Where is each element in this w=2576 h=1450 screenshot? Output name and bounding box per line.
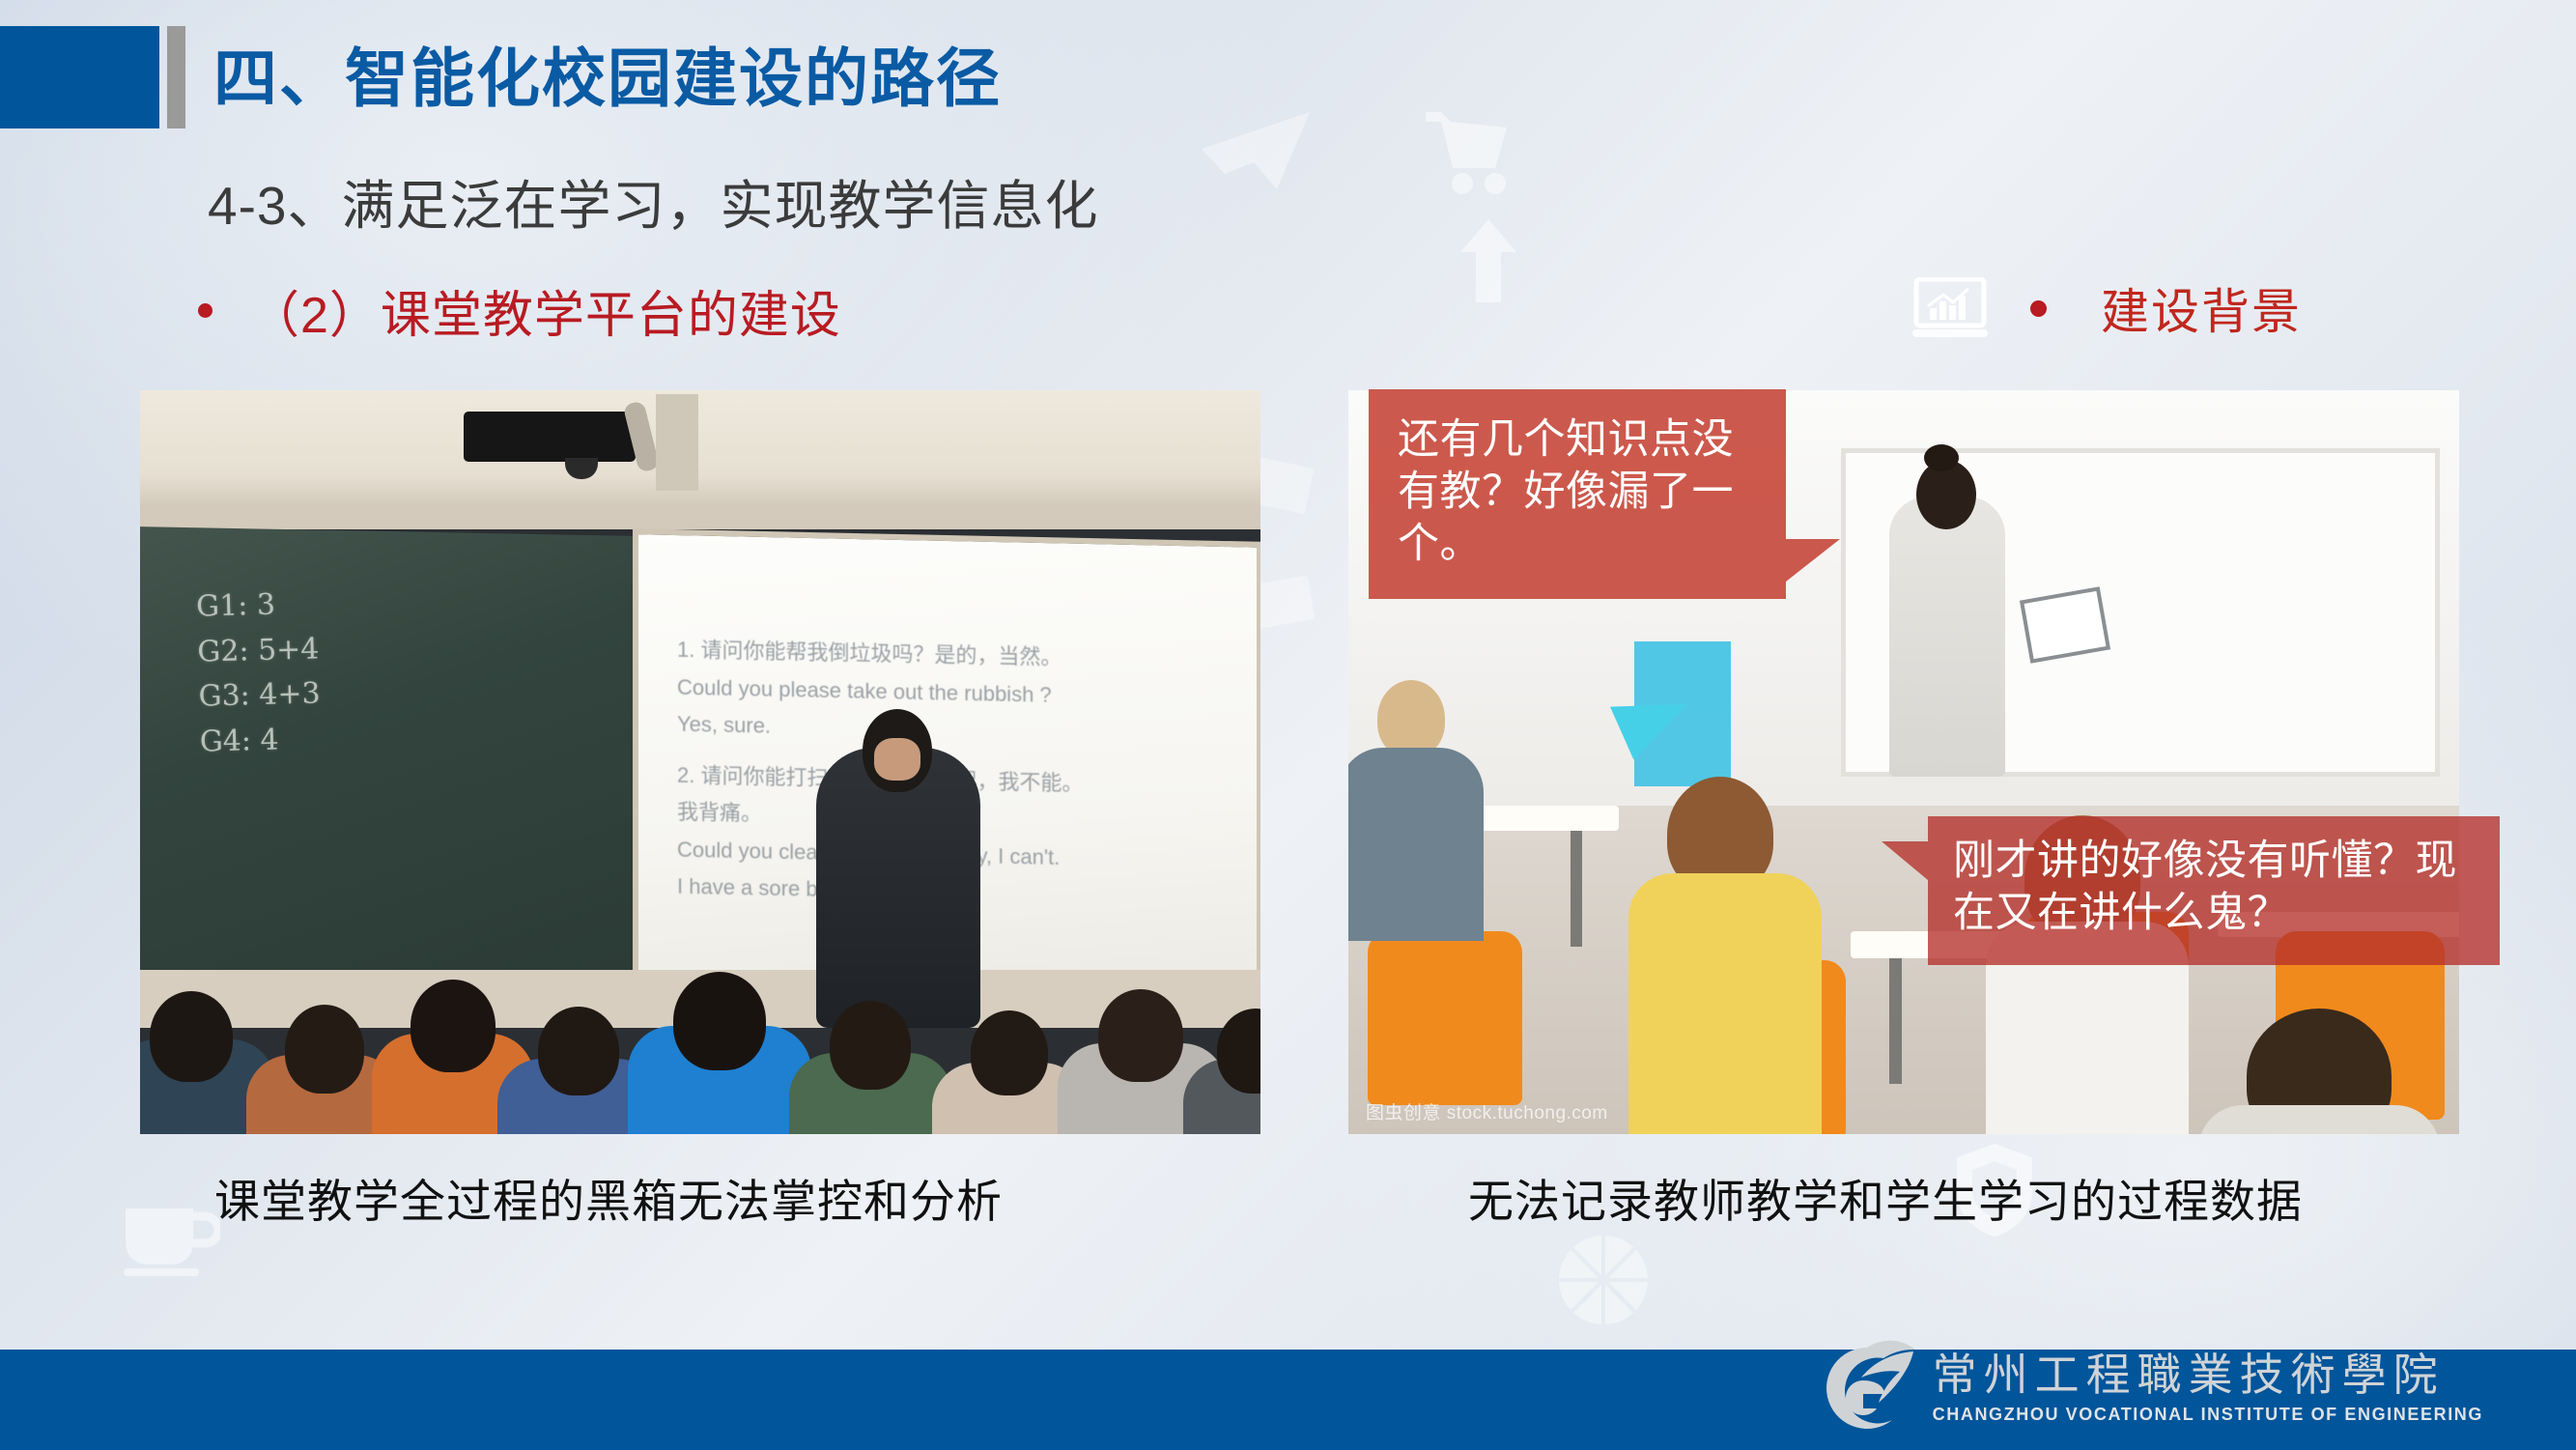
student-thought-bubble: 刚才讲的好像没有听懂？现在又在讲什么鬼？ <box>1928 816 2500 965</box>
teacher-face <box>874 738 920 781</box>
title-accent-block <box>0 26 159 128</box>
coffee-cup-icon <box>114 1183 220 1276</box>
desk-leg <box>1889 958 1902 1084</box>
title-accent-bar <box>167 26 185 128</box>
logo-chinese-name: 常州工程職業技術學院 <box>1933 1351 2483 1398</box>
right-photo-caption: 无法记录教师教学和学生学习的过程数据 <box>1468 1164 2303 1231</box>
chalk-line: G3: 4+3 <box>198 671 321 720</box>
stock-watermark: 图虫创意 stock.tuchong.com <box>1366 1098 1608 1124</box>
student-body <box>1628 873 1822 1134</box>
bubble-tail-icon <box>1882 841 1928 880</box>
bullet-dot-icon <box>198 303 212 318</box>
right-header-label: 建设背景 <box>2101 273 2302 343</box>
student-body <box>1348 748 1484 941</box>
chalk-line: G2: 5+4 <box>197 627 320 675</box>
student-body <box>2198 1105 2440 1134</box>
bubble-text: 还有几个知识点没有教？好像漏了一个。 <box>1398 416 1734 567</box>
blackboard-writing: G1: 3 G2: 5+4 G3: 4+3 G4: 4 <box>196 582 323 764</box>
sun-burst-icon <box>1545 1222 1661 1338</box>
section-subtitle: 4-3、满足泛在学习，实现教学信息化 <box>208 162 1099 240</box>
institution-logo: 常州工程職業技術學院 CHANGZHOU VOCATIONAL INSTITUT… <box>1817 1338 2483 1438</box>
teacher-figure <box>1889 497 2005 777</box>
logo-text-block: 常州工程職業技術學院 CHANGZHOU VOCATIONAL INSTITUT… <box>1933 1351 2483 1425</box>
arrow-up-icon <box>1458 217 1518 304</box>
bullet-row: （2）课堂教学平台的建设 <box>198 274 841 347</box>
logo-mark-icon <box>1817 1338 1917 1438</box>
wall-soffit <box>140 504 1260 529</box>
page-title: 四、智能化校园建设的路径 <box>213 25 1662 131</box>
student-head <box>1377 680 1445 757</box>
desk-leg <box>1571 831 1582 947</box>
chalk-line: G1: 3 <box>196 582 319 630</box>
teacher-thought-bubble: 还有几个知识点没有教？好像漏了一个。 <box>1369 389 1786 599</box>
right-header-dot-icon <box>2030 300 2047 317</box>
bubble-text: 刚才讲的好像没有听懂？现在又在讲什么鬼？ <box>1953 838 2457 936</box>
wall-band <box>140 390 1260 511</box>
left-photo-caption: 课堂教学全过程的黑箱无法掌控和分析 <box>214 1164 1003 1231</box>
right-header-group: 建设背景 <box>1912 273 2302 343</box>
projector <box>464 412 636 462</box>
laptop-chart-icon <box>1912 277 1988 339</box>
bubble-tail-icon <box>1786 539 1840 582</box>
footer-bar: 常州工程職業技術學院 CHANGZHOU VOCATIONAL INSTITUT… <box>0 1350 2576 1450</box>
logo-english-name: CHANGZHOU VOCATIONAL INSTITUTE OF ENGINE… <box>1933 1405 2483 1425</box>
projector-mount <box>656 394 698 491</box>
chalk-line: G4: 4 <box>199 717 322 765</box>
bullet-label: （2）课堂教学平台的建设 <box>249 274 841 347</box>
classroom-lecture-photo: G1: 3 G2: 5+4 G3: 4+3 G4: 4 1. 请问你能帮我倒垃圾… <box>140 390 1260 1134</box>
student-crowd <box>140 951 1260 1134</box>
student-chair <box>1368 931 1522 1105</box>
slide-canvas: 四、智能化校园建设的路径 4-3、满足泛在学习，实现教学信息化 （2）课堂教学平… <box>0 0 2576 1450</box>
teacher-hair-bun <box>1924 444 1959 471</box>
